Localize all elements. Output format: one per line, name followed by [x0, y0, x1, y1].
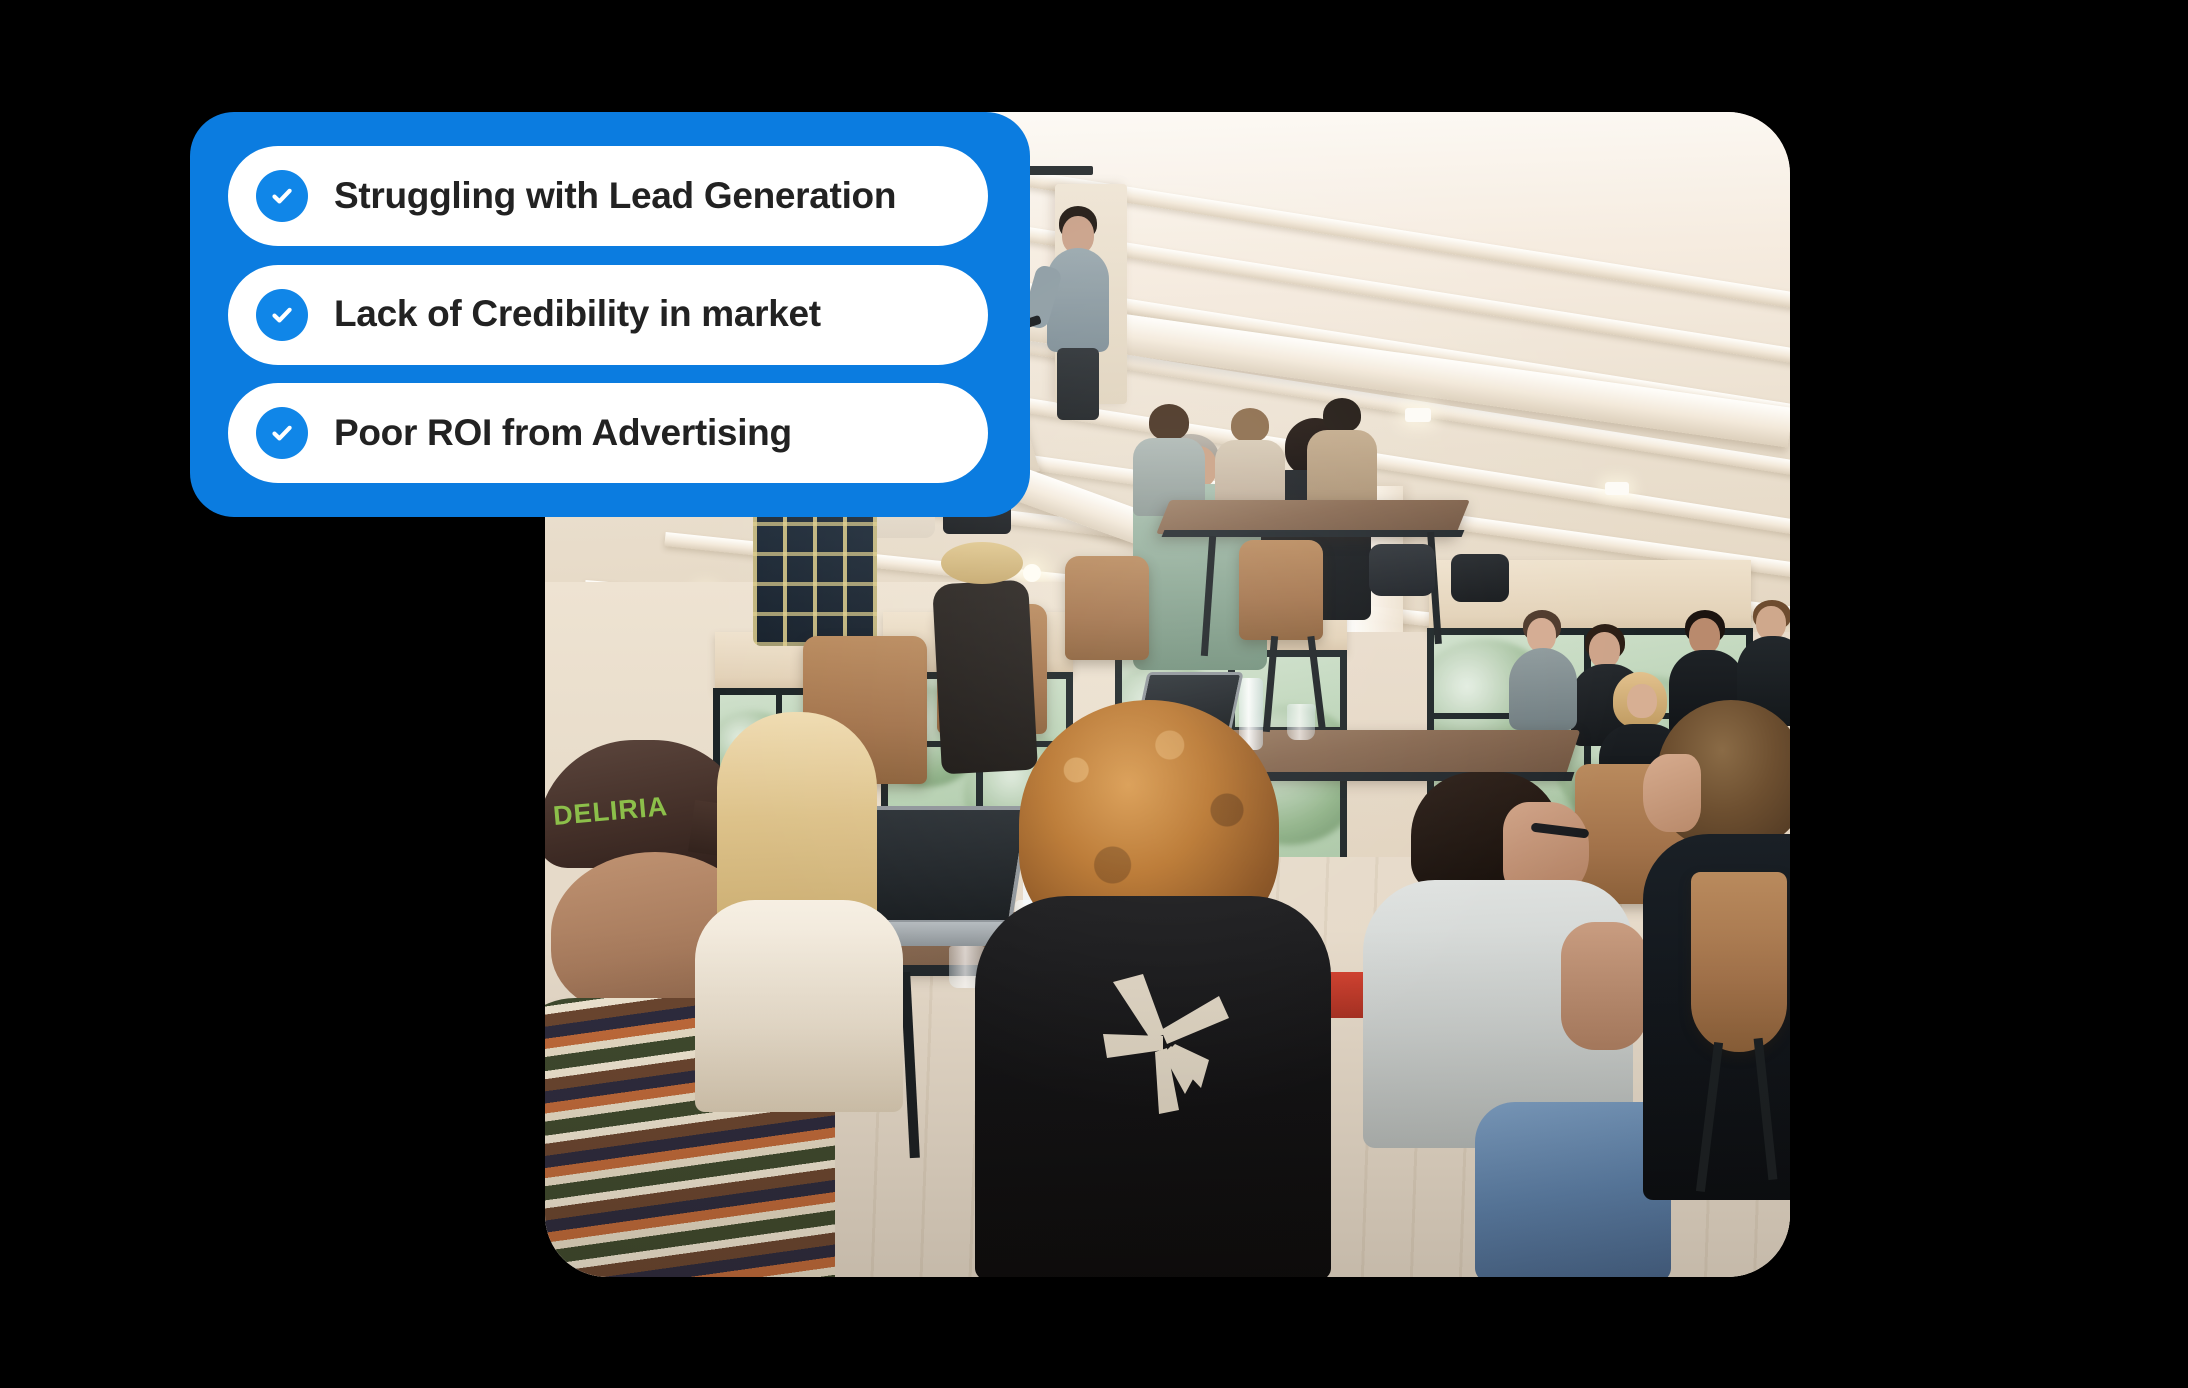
cream-top — [695, 900, 903, 1112]
checklist-item-label: Lack of Credibility in market — [334, 294, 821, 335]
checklist-item-credibility[interactable]: Lack of Credibility in market — [228, 265, 988, 365]
pain-points-checklist-card: Struggling with Lead Generation Lack of … — [190, 112, 1030, 517]
attendee-window-table-2 — [1213, 408, 1289, 514]
attendee-window-table-3 — [1305, 398, 1381, 510]
track-light — [1405, 408, 1431, 422]
check-circle-icon — [256, 407, 308, 459]
backpack — [1451, 554, 1509, 602]
presenter-legs — [1057, 348, 1099, 420]
attendee-hoodie-logo — [975, 700, 1335, 1277]
checklist-item-lead-generation[interactable]: Struggling with Lead Generation — [228, 146, 988, 246]
chair — [1065, 556, 1149, 660]
attendee-far-right-3 — [1505, 610, 1583, 728]
hat-on-chair — [941, 542, 1023, 584]
presenter-torso — [1047, 248, 1109, 352]
check-circle-icon — [256, 289, 308, 341]
jeans — [1475, 1102, 1671, 1277]
check-circle-icon — [256, 170, 308, 222]
track-light — [1023, 564, 1041, 582]
face-profile — [1643, 754, 1701, 832]
checklist-item-label: Struggling with Lead Generation — [334, 176, 896, 217]
windmill-starburst-logo — [1101, 972, 1239, 1118]
attendee-window-table-1 — [1131, 404, 1209, 514]
table-edge — [1162, 530, 1465, 537]
chair — [1239, 540, 1323, 640]
checklist-item-roi[interactable]: Poor ROI from Advertising — [228, 383, 988, 483]
presenter — [1031, 206, 1121, 416]
checklist-item-label: Poor ROI from Advertising — [334, 413, 792, 454]
chair — [1691, 872, 1787, 1052]
attendee-grey-tee — [1363, 772, 1663, 1277]
track-light — [1605, 482, 1629, 495]
screenshot-canvas: 155 — [0, 0, 2188, 1388]
backpack — [1369, 544, 1435, 596]
windmill-logo-svg — [1101, 972, 1239, 1118]
attendee-blonde-foreground — [695, 712, 905, 1112]
table-mid-right — [1156, 500, 1470, 534]
arm-resting — [1561, 922, 1647, 1050]
